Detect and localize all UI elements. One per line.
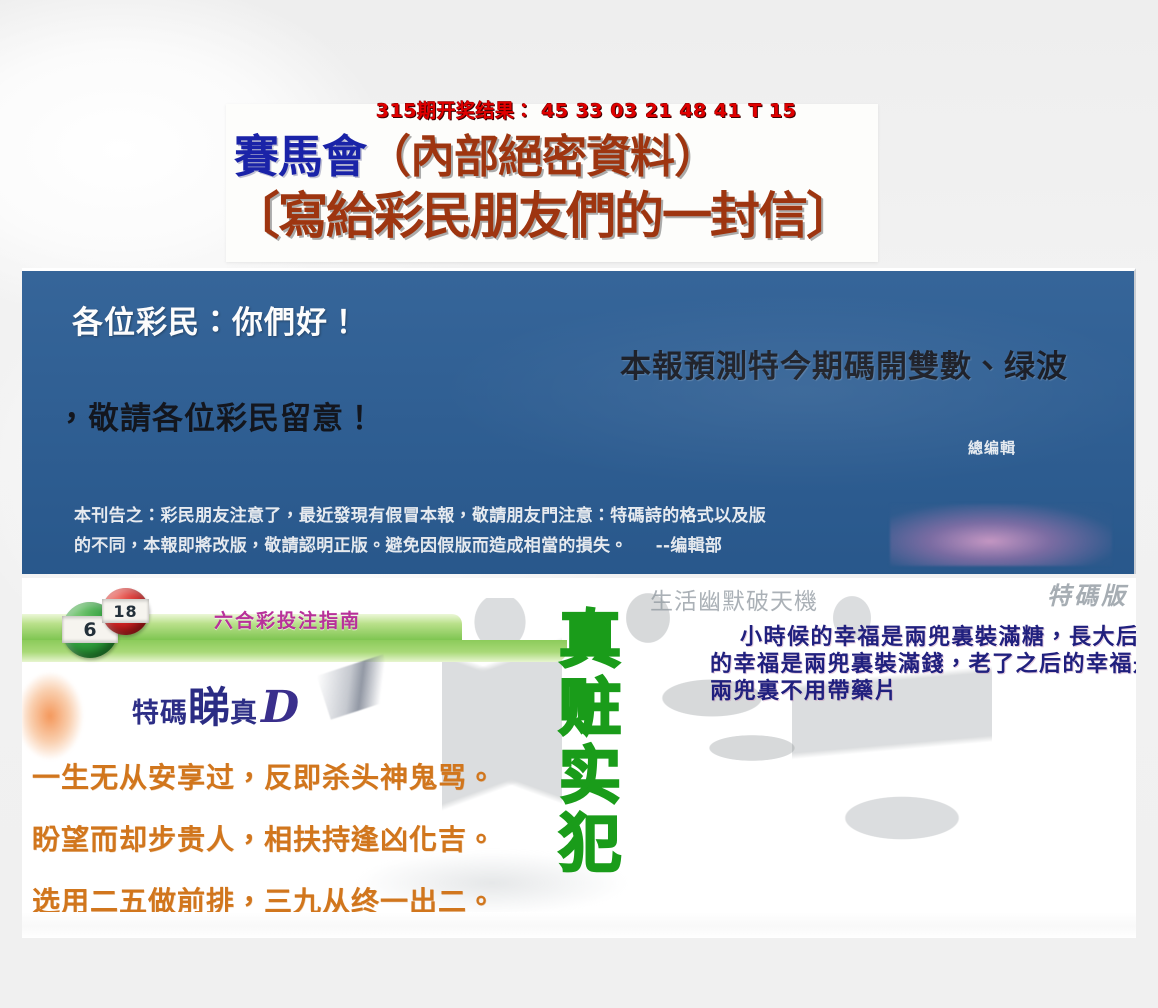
vertical-slogan-char: 真 bbox=[550, 606, 630, 674]
watermark-phrase: 生活幽默破天機 bbox=[650, 582, 818, 616]
draw-result-text: 315期开奖结果： 45 33 03 21 48 41 T 15 bbox=[376, 100, 797, 122]
poem-line: 一生无从安享过，反即杀头神鬼骂。 bbox=[32, 756, 532, 796]
brand-logo-part2: 睇 bbox=[188, 683, 230, 732]
masthead-subtitle: 〔寫給彩民朋友們的一封信〕 bbox=[230, 176, 854, 248]
letter-panel: 各位彩民：你們好！ 本報預測特今期碼開雙數、绿波 ，敬請各位彩民留意！ 總编輯 … bbox=[22, 268, 1136, 574]
vertical-slogan-char: 实 bbox=[550, 742, 630, 810]
brand-logo-part1: 特碼 bbox=[132, 698, 188, 729]
masthead-banner: 賽馬會（內部絕密資料） 〔寫給彩民朋友們的一封信〕 bbox=[226, 104, 878, 262]
logo-brush-decoration bbox=[317, 654, 398, 719]
poem-block: 一生无从安享过，反即杀头神鬼骂。 盼望而却步贵人，相扶持逢凶化吉。 选用二五做前… bbox=[32, 756, 532, 938]
brand-logo-part4: D bbox=[261, 682, 299, 733]
edition-tag: 特碼版 bbox=[1047, 578, 1128, 611]
vertical-slogan: 真 赃 实 犯 bbox=[550, 606, 630, 878]
letter-notice: 本刊告之：彩民朋友注意了，最近發現有假冒本報，敬請朋友門注意：特碼詩的格式以及版… bbox=[74, 501, 1074, 561]
vertical-slogan-char: 犯 bbox=[550, 810, 630, 878]
humor-text: 小時候的幸福是兩兜裏裝滿糖，長大后的幸福是兩兜裏裝滿錢，老了之后的幸福是兩兜裏不… bbox=[710, 624, 1136, 705]
vertical-slogan-char: 赃 bbox=[550, 674, 630, 742]
lottery-ball-red: 18 bbox=[102, 588, 149, 635]
poem-line: 选用二五做前排，三九从终一出二。 bbox=[32, 880, 532, 920]
bottom-content-area: 生活幽默破天機 特碼版 6 18 六合彩投注指南 特碼睇真D 一生无从安享过，反… bbox=[22, 578, 1136, 938]
poem-line: 盼望而却步贵人，相扶持逢凶化吉。 bbox=[32, 818, 532, 858]
notice-signature: --编輯部 bbox=[628, 536, 723, 556]
letter-editor-signature: 總编輯 bbox=[968, 437, 1016, 458]
notice-line-1: 本刊告之：彩民朋友注意了，最近發現有假冒本報，敬請朋友門注意：特碼詩的格式以及版 bbox=[74, 501, 1074, 531]
brand-logo-part3: 真 bbox=[230, 698, 258, 729]
letter-prediction: 本報預測特今期碼開雙數、绿波 bbox=[620, 341, 1068, 386]
letter-attention: ，敬請各位彩民留意！ bbox=[56, 393, 376, 438]
notice-line-2-wrap: 的不同，本報即將改版，敬請認明正版。避免因假版而造成相當的損失。--编輯部 bbox=[74, 531, 1074, 561]
brand-logo: 特碼睇真D bbox=[132, 674, 299, 735]
ribbon-label: 六合彩投注指南 bbox=[214, 606, 361, 633]
lottery-ball-red-number: 18 bbox=[102, 599, 149, 623]
notice-line-2: 的不同，本報即將改版，敬請認明正版。避免因假版而造成相當的損失。 bbox=[74, 536, 628, 556]
letter-greeting: 各位彩民：你們好！ bbox=[72, 297, 360, 342]
draw-result-line: 315期开奖结果： 45 33 03 21 48 41 T 15 bbox=[376, 96, 796, 123]
